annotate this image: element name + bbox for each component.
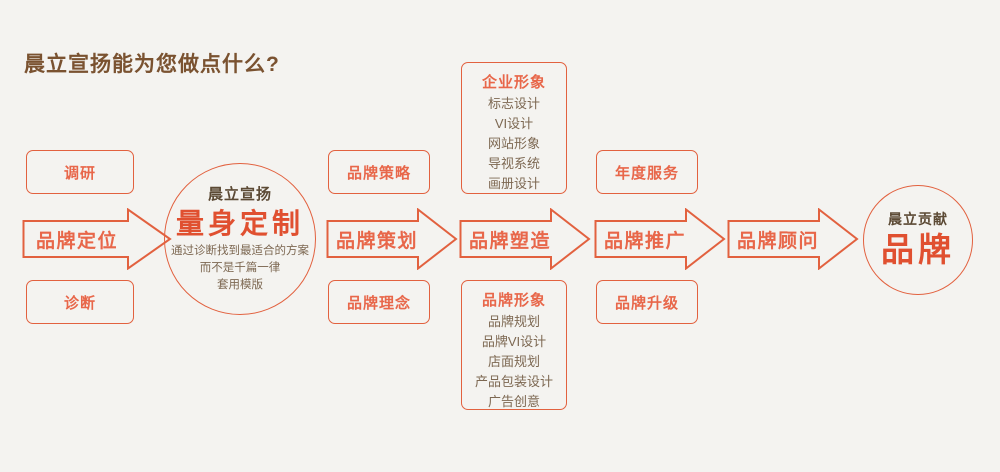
circle-main-headline: 量身定制 xyxy=(176,205,304,243)
circle-main-sub-3: 套用模版 xyxy=(217,277,263,294)
box-brand-concept[interactable]: 品牌理念 xyxy=(328,280,430,324)
box-brand-upgrade-label: 品牌升级 xyxy=(615,292,679,313)
listbox-corporate-image-item: VI设计 xyxy=(495,114,533,134)
arrow-shape-icon xyxy=(459,208,591,270)
arrow-brand-positioning[interactable]: 品牌定位 xyxy=(22,208,172,270)
listbox-corporate-image-title: 企业形象 xyxy=(482,72,546,93)
listbox-brand-image[interactable]: 品牌形象 品牌规划 品牌VI设计 店面规划 产品包装设计 广告创意 xyxy=(461,280,567,410)
listbox-corporate-image-item: 标志设计 xyxy=(488,94,540,114)
box-research[interactable]: 调研 xyxy=(26,150,134,194)
arrow-brand-consultant[interactable]: 品牌顾问 xyxy=(727,208,859,270)
circle-main-sub-1: 通过诊断找到最适合的方案 xyxy=(171,243,309,260)
circle-brand-contribution: 晨立贡献 品牌 xyxy=(863,185,973,295)
box-annual-service-label: 年度服务 xyxy=(615,162,679,183)
arrow-brand-planning[interactable]: 品牌策划 xyxy=(326,208,458,270)
arrow-shape-icon xyxy=(326,208,458,270)
box-annual-service[interactable]: 年度服务 xyxy=(596,150,698,194)
box-brand-strategy[interactable]: 品牌策略 xyxy=(328,150,430,194)
circle-custom-solution: 晨立宣扬 量身定制 通过诊断找到最适合的方案 而不是千篇一律 套用模版 xyxy=(164,163,316,315)
listbox-brand-image-item: 品牌规划 xyxy=(488,312,540,332)
listbox-brand-image-title: 品牌形象 xyxy=(482,290,546,311)
listbox-corporate-image-item: 导视系统 xyxy=(488,154,540,174)
listbox-brand-image-item: 品牌VI设计 xyxy=(482,332,546,352)
arrow-brand-shaping[interactable]: 品牌塑造 xyxy=(459,208,591,270)
listbox-brand-image-item: 产品包装设计 xyxy=(475,372,553,392)
box-diagnosis[interactable]: 诊断 xyxy=(26,280,134,324)
arrow-shape-icon xyxy=(594,208,726,270)
circle-main-sub-2: 而不是千篇一律 xyxy=(200,260,281,277)
box-brand-upgrade[interactable]: 品牌升级 xyxy=(596,280,698,324)
listbox-corporate-image-item: 画册设计 xyxy=(488,174,540,194)
box-research-label: 调研 xyxy=(64,162,96,183)
circle-main-kicker: 晨立宣扬 xyxy=(208,185,272,205)
arrow-shape-icon xyxy=(22,208,172,270)
page-title: 晨立宣扬能为您做点什么? xyxy=(24,48,280,78)
box-brand-concept-label: 品牌理念 xyxy=(347,292,411,313)
circle-end-kicker: 晨立贡献 xyxy=(888,209,948,229)
circle-end-headline: 品牌 xyxy=(881,229,955,271)
box-brand-strategy-label: 品牌策略 xyxy=(347,162,411,183)
diagram-canvas: 晨立宣扬能为您做点什么? 调研 品牌定位 诊断 晨立宣扬 量身定制 通过诊断找到… xyxy=(0,0,1000,472)
listbox-corporate-image[interactable]: 企业形象 标志设计 VI设计 网站形象 导视系统 画册设计 xyxy=(461,62,567,194)
listbox-corporate-image-item: 网站形象 xyxy=(488,134,540,154)
arrow-brand-promotion[interactable]: 品牌推广 xyxy=(594,208,726,270)
listbox-brand-image-item: 店面规划 xyxy=(488,352,540,372)
arrow-shape-icon xyxy=(727,208,859,270)
box-diagnosis-label: 诊断 xyxy=(64,292,96,313)
listbox-brand-image-item: 广告创意 xyxy=(488,392,540,412)
